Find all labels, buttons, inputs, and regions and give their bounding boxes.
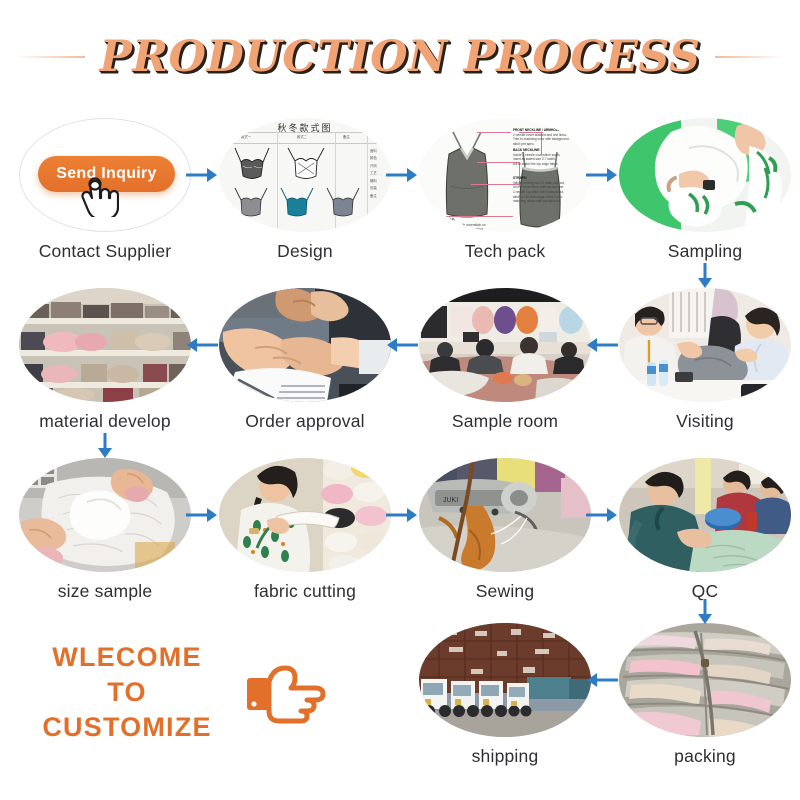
- step-image-wrap: Send Inquiry: [5, 115, 205, 235]
- step-label: material develop: [5, 411, 205, 432]
- step-material-develop[interactable]: material develop: [5, 285, 205, 432]
- step-image-wrap: [205, 455, 405, 575]
- step-design[interactable]: 秋冬款式图 款式一 款式二 备注 面料颜色尺码工艺辅料包装备注: [205, 115, 405, 262]
- step-label: Tech pack: [405, 241, 605, 262]
- step-contact-supplier[interactable]: Send Inquiry Contact Supplier: [5, 115, 205, 262]
- step-image-wrap: [5, 455, 205, 575]
- design-sheet-image: 秋冬款式图 款式一 款式二 备注 面料颜色尺码工艺辅料包装备注: [219, 118, 391, 232]
- pointer-hand-icon: [77, 171, 119, 217]
- welcome-to-customize-block: WLECOME TO CUSTOMIZE: [12, 640, 242, 745]
- step-label: Design: [205, 241, 405, 262]
- arrow-material-to-sizesample: [96, 432, 114, 460]
- tech-pack-note-1: FRONT NECKLINE / ARMHOLE:: [513, 128, 561, 132]
- svg-text:JUKI: JUKI: [443, 497, 458, 504]
- shipping-image: [419, 623, 591, 737]
- arrow-design-to-techpack: [385, 166, 419, 184]
- arrow-sizesample-to-fabriccutting: [185, 506, 219, 524]
- showroom-image: [419, 288, 591, 402]
- arrow-fabriccutting-to-sewing: [385, 506, 419, 524]
- step-label: fabric cutting: [205, 581, 405, 602]
- arrow-techpack-to-sampling: [585, 166, 619, 184]
- step-label: Contact Supplier: [5, 241, 205, 262]
- qc-image: [619, 458, 791, 572]
- handshake-image: [219, 288, 391, 402]
- step-label: Sampling: [605, 241, 800, 262]
- packing-image: [619, 623, 791, 737]
- oval-frame-qc: [619, 458, 791, 572]
- arrow-qc-to-packing: [696, 598, 714, 626]
- bra-sketch-1: [229, 146, 275, 182]
- oval-frame-material-develop: [19, 288, 191, 402]
- step-image-wrap: 秋冬款式图 款式一 款式二 备注 面料颜色尺码工艺辅料包装备注: [205, 115, 405, 235]
- step-image-wrap: [605, 115, 800, 235]
- garment-front-sketch: [431, 126, 503, 226]
- step-order-approval[interactable]: Order approval: [205, 285, 405, 432]
- arrow-visiting-to-sampleroom: [585, 336, 619, 354]
- oval-frame-size-sample: [19, 458, 191, 572]
- step-image-wrap: FRONT NECKLINE / ARMHOLE: 2 needle cover…: [405, 115, 605, 235]
- warehouse-image: [19, 288, 191, 402]
- step-label: size sample: [5, 581, 205, 602]
- welcome-line-1: WLECOME: [12, 640, 242, 675]
- bra-sketch-2: [281, 146, 331, 182]
- oval-frame-order-approval: [219, 288, 391, 402]
- size-sample-image: [19, 458, 191, 572]
- oval-frame-fabric-cutting: [219, 458, 391, 572]
- step-image-wrap: [605, 455, 800, 575]
- step-packing[interactable]: packing: [605, 620, 800, 767]
- step-image-wrap: [605, 620, 800, 740]
- bra-sketch-5: [321, 186, 365, 220]
- arrow-packing-to-shipping: [585, 671, 619, 689]
- bra-sketch-4: [275, 186, 319, 220]
- step-image-wrap: [605, 285, 800, 405]
- tech-pack-note-3: STRAPS:: [513, 176, 527, 180]
- step-image-wrap: [405, 285, 605, 405]
- oval-frame-tech-pack: FRONT NECKLINE / ARMHOLE: 2 needle cover…: [419, 118, 591, 232]
- step-image-wrap: JUKI: [405, 455, 605, 575]
- step-sampling[interactable]: Sampling: [605, 115, 800, 262]
- step-fabric-cutting[interactable]: fabric cutting: [205, 455, 405, 602]
- step-label: shipping: [405, 746, 605, 767]
- welcome-line-2: TO: [12, 675, 242, 710]
- oval-frame-visiting: [619, 288, 791, 402]
- step-label: Sample room: [405, 411, 605, 432]
- step-qc[interactable]: QC: [605, 455, 800, 602]
- sewing-image: JUKI: [419, 458, 591, 572]
- arrow-orderapproval-to-material: [185, 336, 219, 354]
- step-size-sample[interactable]: size sample: [5, 455, 205, 602]
- pointing-hand-icon: [245, 660, 331, 730]
- oval-frame-sampling: [619, 118, 791, 232]
- oval-frame-design: 秋冬款式图 款式一 款式二 备注 面料颜色尺码工艺辅料包装备注: [219, 118, 391, 232]
- arrow-sampleroom-to-orderapproval: [385, 336, 419, 354]
- oval-frame-sample-room: [419, 288, 591, 402]
- oval-frame-sewing: JUKI: [419, 458, 591, 572]
- step-tech-pack[interactable]: FRONT NECKLINE / ARMHOLE: 2 needle cover…: [405, 115, 605, 262]
- fabric-cutting-image: [219, 458, 391, 572]
- welcome-line-3: CUSTOMIZE: [12, 710, 242, 745]
- step-sewing[interactable]: JUKI: [405, 455, 605, 602]
- step-image-wrap: [5, 285, 205, 405]
- process-grid: Send Inquiry Contact Supplier 秋冬款式图 款: [0, 0, 800, 800]
- step-label: Visiting: [605, 411, 800, 432]
- step-label: Order approval: [205, 411, 405, 432]
- tech-pack-image: FRONT NECKLINE / ARMHOLE: 2 needle cover…: [419, 118, 591, 232]
- arrow-sewing-to-qc: [585, 506, 619, 524]
- tech-pack-note-2: BACK NECKLINE:: [513, 148, 540, 152]
- bra-sketch-3: [229, 186, 273, 220]
- oval-frame-shipping: [419, 623, 591, 737]
- step-shipping[interactable]: shipping: [405, 620, 605, 767]
- visiting-image: [619, 288, 791, 402]
- step-visiting[interactable]: Visiting: [605, 285, 800, 432]
- step-sample-room[interactable]: Sample room: [405, 285, 605, 432]
- arrow-contact-to-design: [185, 166, 219, 184]
- oval-frame-packing: [619, 623, 791, 737]
- step-label: Sewing: [405, 581, 605, 602]
- tech-pack-note-4: HEM EDGE:: [437, 218, 455, 222]
- step-image-wrap: [205, 285, 405, 405]
- step-image-wrap: [405, 620, 605, 740]
- sampling-image: [619, 118, 791, 232]
- step-label: packing: [605, 746, 800, 767]
- arrow-sampling-to-visiting: [696, 262, 714, 290]
